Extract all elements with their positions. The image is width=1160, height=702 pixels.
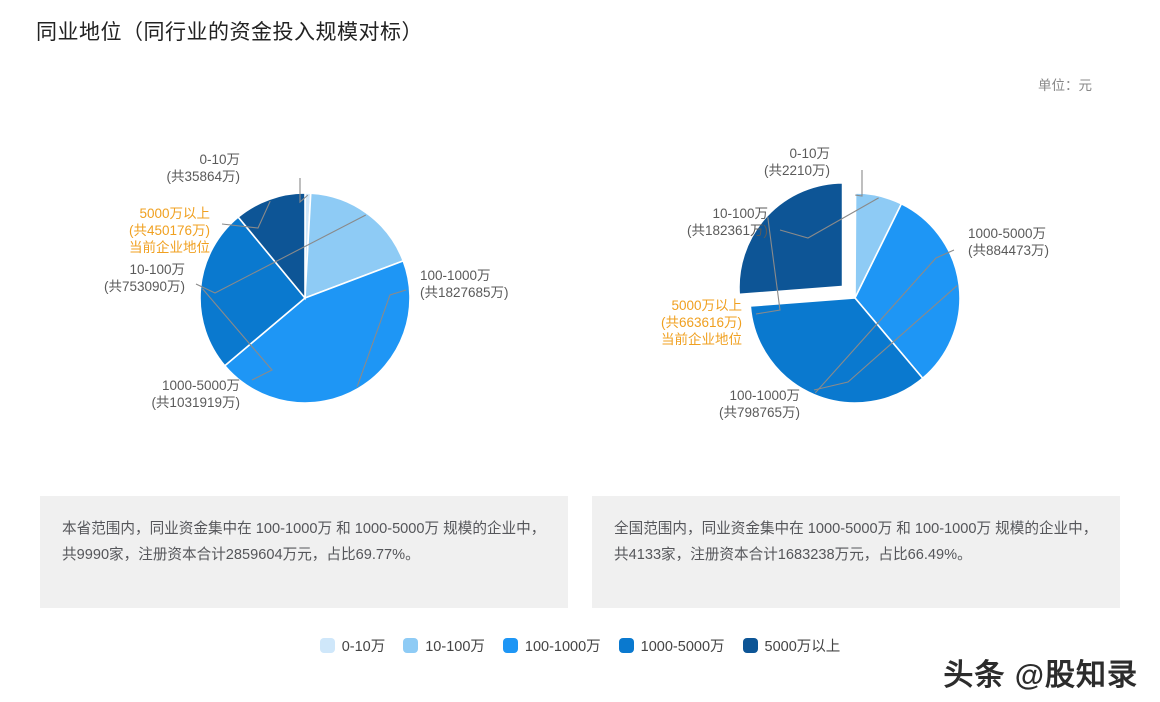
- page-title: 同业地位（同行业的资金投入规模对标）: [36, 16, 423, 46]
- legend-item[interactable]: 100-1000万: [503, 635, 601, 656]
- legend-item-label: 5000万以上: [765, 635, 841, 656]
- legend-item-label: 1000-5000万: [641, 635, 725, 656]
- pie-slice-label-line: 10-100万: [129, 262, 185, 277]
- pie-slice-label: 0-10万(共35864万): [166, 152, 240, 184]
- pie-slice-label-line: (共663616万): [661, 315, 742, 330]
- legend-item-label: 0-10万: [342, 635, 386, 656]
- legend-item[interactable]: 10-100万: [403, 635, 485, 656]
- legend-item[interactable]: 1000-5000万: [619, 635, 725, 656]
- pie-slice-label-line: 0-10万: [789, 146, 830, 161]
- chart-nationwide: 0-10万(共2210万)10-100万(共182361万)100-1000万(…: [580, 118, 1160, 478]
- legend-swatch-icon: [503, 638, 518, 653]
- pie-slice-label: 5000万以上(共450176万)当前企业地位: [129, 206, 210, 255]
- pie-slice-label: 10-100万(共753090万): [104, 262, 185, 294]
- legend-item[interactable]: 0-10万: [320, 635, 386, 656]
- pie-slice-label-line: (共182361万): [687, 223, 768, 238]
- chart-province: 0-10万(共35864万)10-100万(共753090万)100-1000万…: [0, 118, 580, 478]
- pie-slice-label: 0-10万(共2210万): [764, 146, 830, 178]
- pie-slice-label: 100-1000万(共1827685万): [420, 268, 509, 300]
- legend-item[interactable]: 5000万以上: [743, 635, 841, 656]
- pie-slice-label-line: 5000万以上: [139, 206, 210, 221]
- pie-slice-label-line: 0-10万: [199, 152, 240, 167]
- pie-slice-label-line: (共884473万): [968, 243, 1049, 258]
- pie-slice-label-line: (共753090万): [104, 279, 185, 294]
- legend-swatch-icon: [743, 638, 758, 653]
- pie-slice-label-line: 当前企业地位: [661, 331, 742, 347]
- pie-label-leader-line: [855, 170, 862, 196]
- summary-province: 本省范围内，同业资金集中在 100-1000万 和 1000-5000万 规模的…: [40, 496, 568, 608]
- pie-slice-label-line: 当前企业地位: [129, 239, 210, 255]
- pie-slice-label: 100-1000万(共798765万): [719, 388, 800, 420]
- pie-slice-label-line: (共1031919万): [151, 395, 240, 410]
- watermark: 头条 @股知录: [943, 650, 1138, 694]
- pie-slice-label: 1000-5000万(共884473万): [968, 226, 1049, 258]
- pie-slice-label-line: (共1827685万): [420, 285, 509, 300]
- pie-slice-label-line: 100-1000万: [420, 268, 491, 283]
- pie-slice-label: 1000-5000万(共1031919万): [151, 378, 240, 410]
- pie-slice-label-line: (共35864万): [166, 169, 240, 184]
- pie-slice-label-line: 1000-5000万: [968, 226, 1046, 241]
- pie-slice-label-line: 1000-5000万: [162, 378, 240, 393]
- pie-chart-nationwide: 0-10万(共2210万)10-100万(共182361万)100-1000万(…: [580, 118, 1160, 478]
- pie-slice[interactable]: [738, 182, 843, 295]
- legend-swatch-icon: [619, 638, 634, 653]
- pie-slice-label-line: (共798765万): [719, 405, 800, 420]
- legend-item-label: 100-1000万: [525, 635, 601, 656]
- pie-chart-province: 0-10万(共35864万)10-100万(共753090万)100-1000万…: [0, 118, 580, 478]
- pie-slice-label: 5000万以上(共663616万)当前企业地位: [661, 298, 742, 347]
- pie-slice-label-line: (共450176万): [129, 223, 210, 238]
- pie-slice-label-line: (共2210万): [764, 163, 830, 178]
- pie-slice-label-line: 5000万以上: [671, 298, 742, 313]
- unit-label: 单位：元: [1038, 74, 1092, 94]
- summary-nationwide: 全国范围内，同业资金集中在 1000-5000万 和 100-1000万 规模的…: [592, 496, 1120, 608]
- charts-area: 0-10万(共35864万)10-100万(共753090万)100-1000万…: [0, 118, 1160, 478]
- legend-item-label: 10-100万: [425, 635, 485, 656]
- pie-slice-label-line: 10-100万: [712, 206, 768, 221]
- summaries-area: 本省范围内，同业资金集中在 100-1000万 和 1000-5000万 规模的…: [0, 496, 1160, 612]
- page-root: 同业地位（同行业的资金投入规模对标） 单位：元 0-10万(共35864万)10…: [0, 0, 1160, 702]
- legend-swatch-icon: [320, 638, 335, 653]
- legend-swatch-icon: [403, 638, 418, 653]
- pie-slice-label-line: 100-1000万: [729, 388, 800, 403]
- pie-slice-label: 10-100万(共182361万): [687, 206, 768, 238]
